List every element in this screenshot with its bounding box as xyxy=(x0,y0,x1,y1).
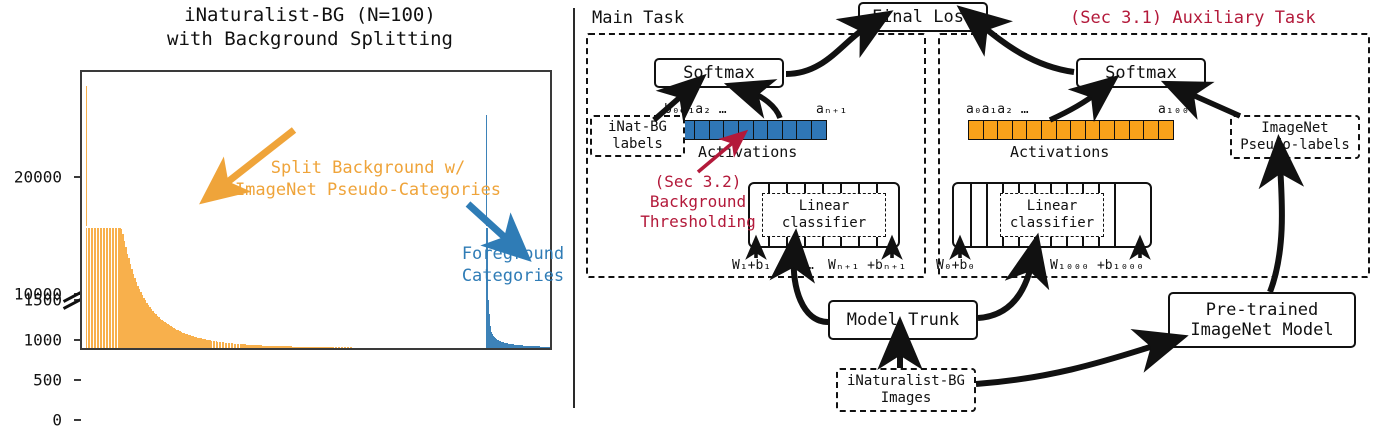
method-diagram: Main Task (Sec 3.1) Auxiliary Task Final… xyxy=(580,0,1376,422)
arrow-trunk-to-aux-classifier xyxy=(978,262,1032,318)
arrow-images-to-pretrained xyxy=(976,344,1160,384)
arrow-main-activations-to-softmax xyxy=(750,92,780,118)
chart-arrows xyxy=(82,72,554,352)
chart-title: iNaturalist-BG (N=100) with Background S… xyxy=(60,4,560,52)
arrow-background-thresholding xyxy=(698,140,736,172)
y-axis: 0500100015001000020000 xyxy=(0,70,74,350)
y-tick-label: 0 xyxy=(52,411,62,430)
arrow-aux-activations-to-softmax xyxy=(1050,92,1098,120)
arrow-to-foreground xyxy=(468,204,512,244)
y-tick-label: 20000 xyxy=(14,168,62,187)
panel-divider xyxy=(573,8,575,408)
arrow-trunk-to-main-classifier xyxy=(794,258,828,322)
y-tick-label: 1000 xyxy=(23,331,62,350)
y-tick-label: 10000 xyxy=(14,285,62,304)
chart-panel: iNaturalist-BG (N=100) with Background S… xyxy=(0,0,562,422)
diagram-arrows xyxy=(580,0,1376,422)
arrow-pretrained-to-pseudolabels xyxy=(1270,164,1282,292)
y-tick-mark xyxy=(74,379,81,381)
figure-root: iNaturalist-BG (N=100) with Background S… xyxy=(0,0,1376,422)
y-tick-label: 500 xyxy=(33,371,62,390)
arrow-aux-softmax-to-loss xyxy=(980,24,1074,72)
arrow-main-softmax-to-loss xyxy=(786,26,868,74)
arrow-pseudolabels-to-aux-softmax xyxy=(1186,92,1240,116)
arrow-labels-to-main-softmax xyxy=(654,92,686,120)
plot-frame: Split Background w/ ImageNet Pseudo-Cate… xyxy=(80,70,552,350)
y-tick-mark xyxy=(74,419,81,421)
arrow-to-background xyxy=(220,130,294,188)
